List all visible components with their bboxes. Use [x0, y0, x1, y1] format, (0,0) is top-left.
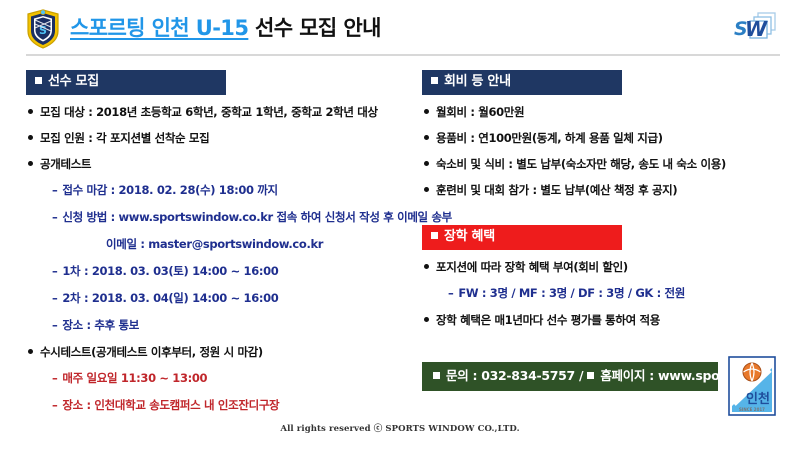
list-item-text: 장소 : 인천대학교 송도캠퍼스 내 인조잔디구장	[62, 398, 279, 412]
list-item-text: 2차 : 2018. 03. 04(일) 14:00 ~ 16:00	[62, 291, 278, 305]
bullet-square-icon	[587, 372, 594, 379]
list-item-text: 수시테스트(공개테스트 이후부터, 정원 시 마감)	[40, 345, 263, 359]
list-item-text: 모집 대상 : 2018년 초등학교 6학년, 중학교 1학년, 중학교 2학년…	[40, 105, 378, 119]
page-title: 스포르팅 인천 U-15 선수 모집 안내	[70, 18, 381, 39]
bullet-dash-icon: –	[52, 183, 57, 198]
scholarship-item-list: 포지션에 따라 장학 혜택 부여(회비 할인) –FW : 3명 / MF : …	[422, 260, 788, 328]
bullet-dot-icon	[28, 161, 33, 166]
club-crest-icon: S	[26, 9, 60, 49]
contact-bar: 문의 : 032-834-5757 / 홈페이지 : www.sportswin…	[422, 362, 718, 391]
list-item-text: 장소 : 추후 통보	[62, 318, 139, 332]
list-item: 장학 혜택은 매1년마다 선수 평가를 통하여 적용	[422, 313, 788, 328]
bullet-dot-icon	[28, 349, 33, 354]
bullet-square-icon	[35, 77, 42, 84]
list-item: 숙소비 및 식비 : 별도 납부(숙소자만 해당, 송도 내 숙소 이용)	[422, 157, 788, 172]
list-item-text: 신청 방법 : www.sportswindow.co.kr 접속 하여 신청서…	[62, 210, 452, 224]
list-item-text: FW : 3명 / MF : 3명 / DF : 3명 / GK : 전원	[458, 286, 685, 300]
page-title-highlight: 스포르팅 인천 U-15	[70, 16, 248, 40]
fees-scholarship-column: 회비 등 안내 월회비 : 월60만원 용품비 : 연100만원(동계, 하계 …	[422, 70, 788, 425]
list-item: –신청 방법 : www.sportswindow.co.kr 접속 하여 신청…	[26, 210, 414, 225]
bullet-dash-icon: –	[52, 264, 57, 279]
list-item: 용품비 : 연100만원(동계, 하계 용품 일체 지급)	[422, 131, 788, 146]
section-header-recruit: 선수 모집	[26, 70, 226, 95]
recruitment-column: 선수 모집 모집 대상 : 2018년 초등학교 6학년, 중학교 1학년, 중…	[26, 70, 414, 425]
incheon-badge-since: SINCE 2017	[739, 407, 765, 412]
section-header-fees-label: 회비 등 안내	[444, 74, 511, 89]
list-item-text: 포지션에 따라 장학 혜택 부여(회비 할인)	[436, 260, 628, 274]
bullet-dot-icon	[424, 135, 429, 140]
list-item: 모집 대상 : 2018년 초등학교 6학년, 중학교 1학년, 중학교 2학년…	[26, 105, 414, 120]
fees-item-list: 월회비 : 월60만원 용품비 : 연100만원(동계, 하계 용품 일체 지급…	[422, 105, 788, 198]
page-title-rest: 선수 모집 안내	[248, 16, 380, 40]
list-item: –2차 : 2018. 03. 04(일) 14:00 ~ 16:00	[26, 291, 414, 306]
list-item-text: 모집 인원 : 각 포지션별 선착순 모집	[40, 131, 209, 145]
contact-separator: /	[575, 368, 587, 383]
list-item: –접수 마감 : 2018. 02. 28(수) 18:00 까지	[26, 183, 414, 198]
section-spacer	[422, 209, 788, 225]
section-header-fees: 회비 등 안내	[422, 70, 622, 95]
bullet-dash-icon: –	[52, 318, 57, 333]
bullet-dash-icon: –	[52, 291, 57, 306]
list-item-text: 숙소비 및 식비 : 별도 납부(숙소자만 해당, 송도 내 숙소 이용)	[436, 157, 726, 171]
bullet-dot-icon	[28, 135, 33, 140]
bullet-square-icon	[431, 77, 438, 84]
bullet-dot-icon	[28, 109, 33, 114]
list-item: –1차 : 2018. 03. 03(토) 14:00 ~ 16:00	[26, 264, 414, 279]
email-line: 이메일 : master@sportswindow.co.kr	[26, 237, 414, 252]
incheon-club-badge-icon: 인천 SINCE 2017	[728, 356, 776, 416]
list-item: 모집 인원 : 각 포지션별 선착순 모집	[26, 131, 414, 146]
bullet-dot-icon	[424, 161, 429, 166]
bullet-dot-icon	[424, 187, 429, 192]
bullet-square-icon	[431, 232, 438, 239]
content-area: 선수 모집 모집 대상 : 2018년 초등학교 6학년, 중학교 1학년, 중…	[0, 56, 800, 425]
contact-phone-label: 문의 : 032-834-5757	[446, 368, 575, 383]
page-header: S 스포르팅 인천 U-15 선수 모집 안내 S W	[0, 0, 800, 56]
list-item: 포지션에 따라 장학 혜택 부여(회비 할인)	[422, 260, 788, 275]
list-item-text: 공개테스트	[40, 157, 91, 171]
sports-window-logo-icon: S W	[726, 8, 782, 48]
section-header-scholarship: 장학 혜택	[422, 225, 622, 250]
bullet-dot-icon	[424, 264, 429, 269]
bullet-dot-icon	[424, 109, 429, 114]
list-item-text: 월회비 : 월60만원	[436, 105, 524, 119]
list-item-text: 1차 : 2018. 03. 03(토) 14:00 ~ 16:00	[62, 264, 278, 278]
contact-bar-wrapper: 문의 : 032-834-5757 / 홈페이지 : www.sportswin…	[422, 362, 718, 391]
list-item-text: 접수 마감 : 2018. 02. 28(수) 18:00 까지	[62, 183, 277, 197]
list-item-text: 용품비 : 연100만원(동계, 하계 용품 일체 지급)	[436, 131, 663, 145]
section-header-scholarship-label: 장학 혜택	[444, 229, 495, 244]
email-line-text: 이메일 : master@sportswindow.co.kr	[106, 237, 323, 251]
list-item: 공개테스트	[26, 157, 414, 172]
list-item: –장소 : 추후 통보	[26, 318, 414, 333]
list-item-text: 장학 혜택은 매1년마다 선수 평가를 통하여 적용	[436, 313, 660, 327]
list-item-text: 매주 일요일 11:30 ~ 13:00	[62, 371, 207, 385]
list-item-text: 훈련비 및 대회 참가 : 별도 납부(예산 책정 후 공지)	[436, 183, 677, 197]
bullet-dot-icon	[424, 317, 429, 322]
contact-row: 문의 : 032-834-5757 / 홈페이지 : www.sportswin…	[422, 362, 788, 422]
list-item: 수시테스트(공개테스트 이후부터, 정원 시 마감)	[26, 345, 414, 360]
list-item: –매주 일요일 11:30 ~ 13:00	[26, 371, 414, 386]
bullet-dash-icon: –	[448, 286, 453, 301]
bullet-dash-icon: –	[52, 398, 57, 413]
footer-copyright: All rights reserved ⓒ SPORTS WINDOW CO.,…	[0, 422, 800, 434]
list-item: 월회비 : 월60만원	[422, 105, 788, 120]
list-item: –FW : 3명 / MF : 3명 / DF : 3명 / GK : 전원	[422, 286, 788, 301]
bullet-square-icon	[433, 372, 440, 379]
bullet-dash-icon: –	[52, 210, 57, 225]
section-header-recruit-label: 선수 모집	[48, 74, 99, 89]
bullet-dash-icon: –	[52, 371, 57, 386]
recruit-item-list: 모집 대상 : 2018년 초등학교 6학년, 중학교 1학년, 중학교 2학년…	[26, 105, 414, 412]
svg-text:W: W	[745, 17, 768, 41]
incheon-badge-text: 인천	[746, 391, 770, 407]
list-item: 훈련비 및 대회 참가 : 별도 납부(예산 책정 후 공지)	[422, 183, 788, 198]
list-item: –장소 : 인천대학교 송도캠퍼스 내 인조잔디구장	[26, 398, 414, 413]
